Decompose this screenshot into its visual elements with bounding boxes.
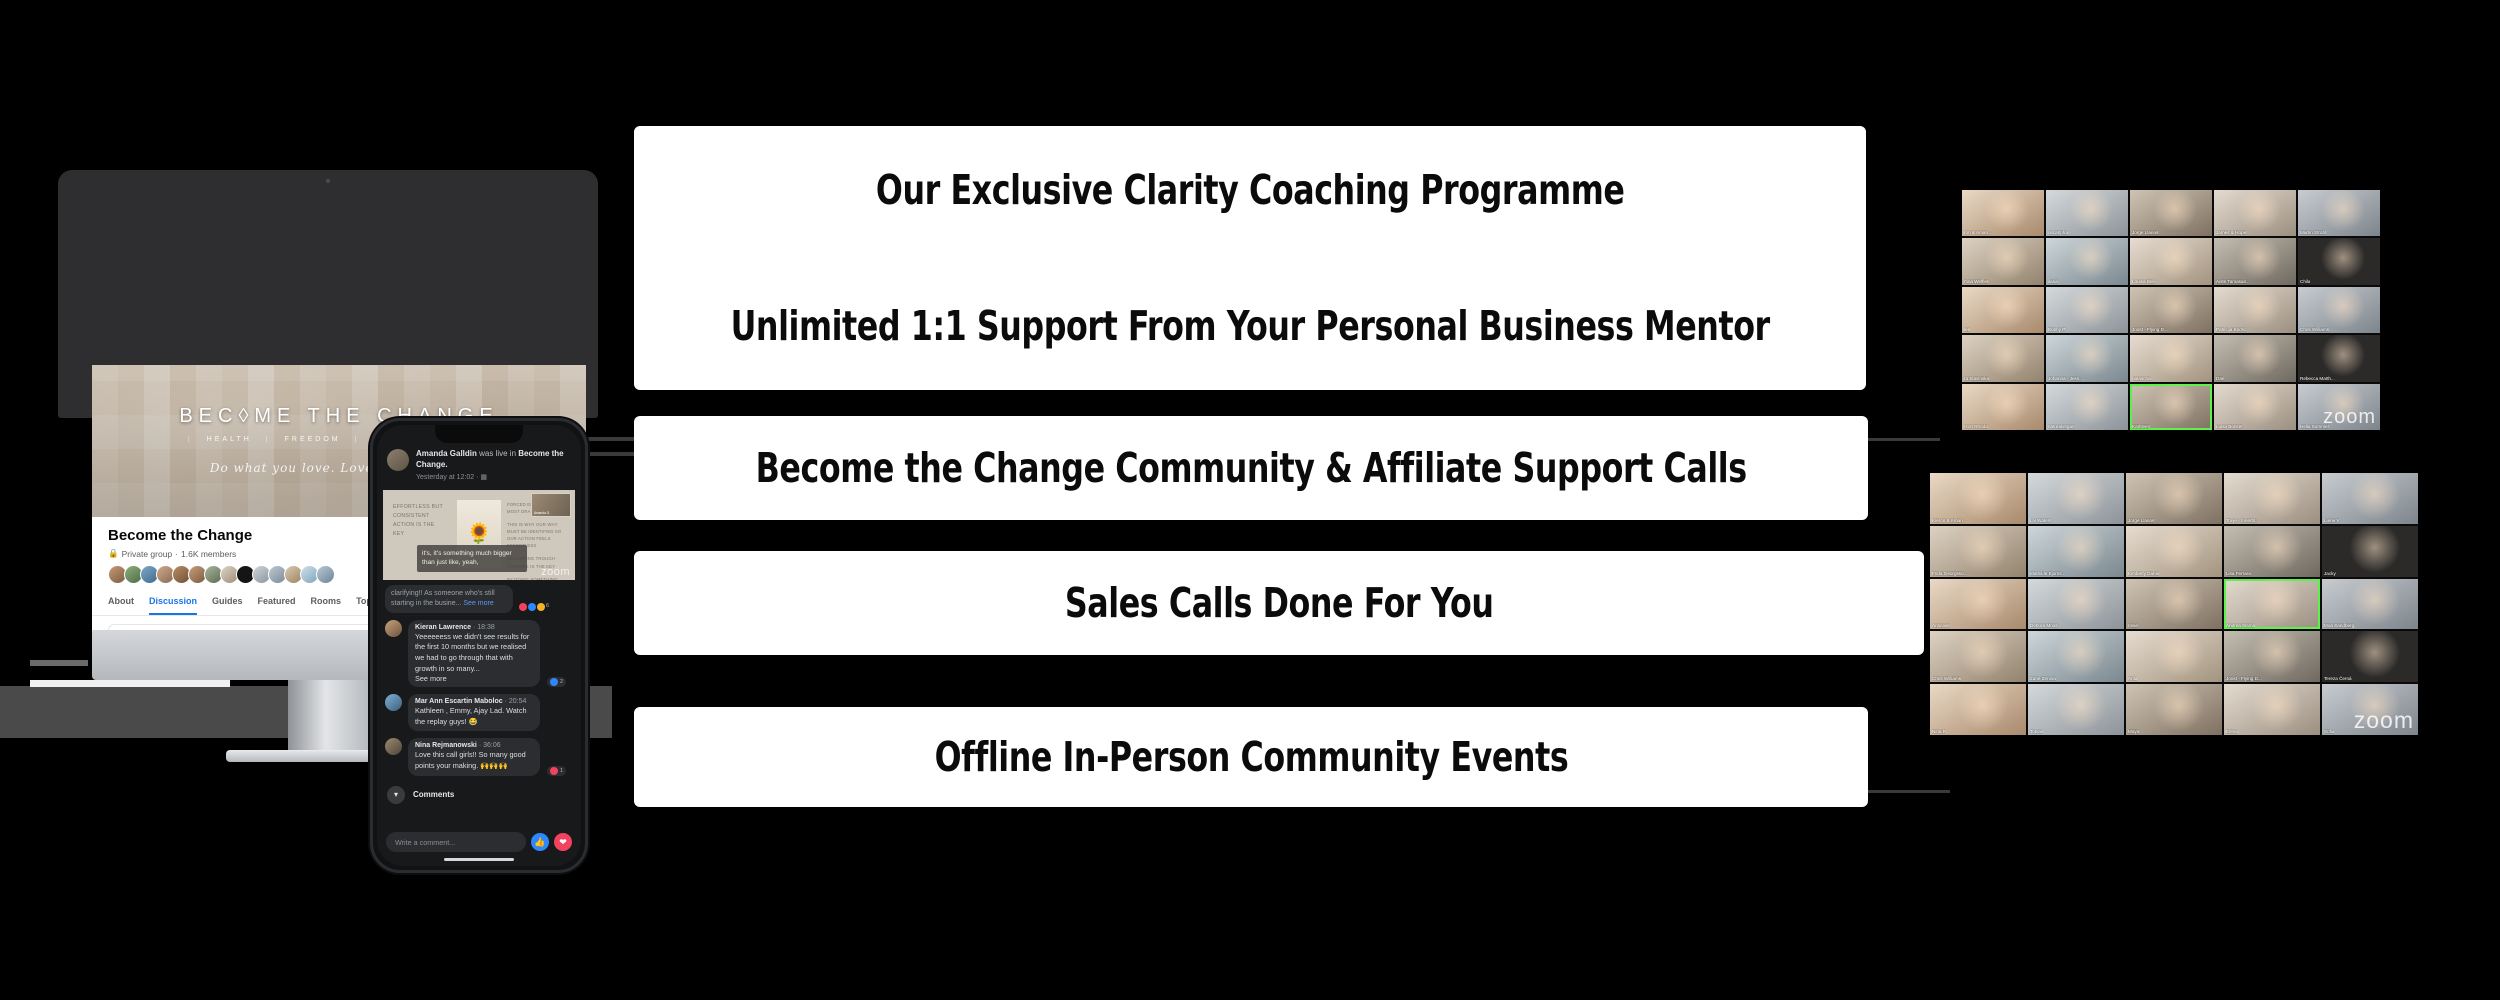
participant-name: Tonje - Innerbl...: [2226, 518, 2259, 523]
heart-icon[interactable]: ❤: [554, 833, 572, 851]
comment-composer[interactable]: Write a comment... 👍 ❤: [377, 832, 581, 852]
connector-line-right: [1860, 438, 1940, 441]
zoom-participant-tile[interactable]: Chris Williams: [1930, 631, 2026, 682]
zoom-participant-tile[interactable]: Elena: [2224, 684, 2320, 735]
zoom-watermark: zoom: [541, 566, 570, 578]
feature-title-3: Become the Change Community & Affiliate …: [755, 444, 1746, 492]
author-name: Mar Ann Escartin Maboloc: [415, 698, 503, 705]
zoom-participant-tile[interactable]: Rebecca Matth...: [2298, 335, 2380, 381]
tab-discussion[interactable]: Discussion: [149, 596, 197, 615]
participant-video: [2126, 579, 2222, 630]
participant-name: Chila: [2300, 279, 2310, 284]
timestamp-text: Yesterday at 12:02: [416, 474, 474, 481]
desk-accent-2: [30, 660, 88, 666]
participant-video: [2322, 631, 2418, 682]
comment-time: · 36:06: [479, 742, 501, 749]
participant-name: Moa Sandberg: [2324, 623, 2354, 628]
reaction-count: 1: [560, 768, 563, 774]
zoom-participant-tile[interactable]: rtina Welfler: [1962, 238, 2044, 284]
zoom-participant-tile[interactable]: Zane Zenina: [2028, 631, 2124, 682]
participant-name: Bobby P: [2048, 327, 2065, 332]
participant-name: Arita: [2128, 676, 2137, 681]
webcam-icon: [326, 179, 330, 183]
zoom-participant-tile[interactable]: Andrea Slama: [2224, 579, 2320, 630]
zoom-participant-tile[interactable]: Aiste Tamasait...: [2214, 238, 2296, 284]
zoom-participant-tile[interactable]: Johanna - Jess...: [2046, 335, 2128, 381]
participant-name: Dari: [2216, 376, 2224, 381]
zoom-participant-tile[interactable]: James & Hope: [2214, 190, 2296, 236]
feature-panel-3: Sales Calls Done For You: [634, 551, 1924, 655]
participant-video: [2028, 579, 2124, 630]
participant-name: Nina R: [1932, 729, 1946, 734]
participant-video: [2126, 473, 2222, 524]
participant-name: Aiste Tamasait...: [2216, 279, 2250, 284]
participant-name: Chris Williams: [1932, 676, 1961, 681]
feature-panel-4: Offline In-Person Community Events: [634, 707, 1868, 807]
lock-icon: 🔒: [108, 548, 119, 559]
zoom-participant-tile[interactable]: Luisa Bonser: [2214, 384, 2296, 430]
comment-time: · 20:54: [505, 698, 527, 705]
meta-separator: ·: [175, 549, 178, 559]
heart-icon: [550, 767, 558, 775]
participant-name: Rebecca Matth...: [2300, 376, 2335, 381]
feature-title-5: Offline In-Person Community Events: [934, 733, 1568, 781]
participant-name: Maya: [2128, 729, 2139, 734]
participant-video: [1962, 287, 2044, 333]
comment-list: clarifying!! As someone who's still star…: [377, 580, 581, 776]
zoom-watermark: zoom: [2323, 406, 2376, 429]
zoom-participant-tile[interactable]: ron & Aman...: [1962, 190, 2044, 236]
feature-panel-1: Our Exclusive Clarity Coaching Programme…: [634, 126, 1866, 390]
participant-name: Joost - Flying D...: [2132, 327, 2168, 332]
iphone-mockup: Amanda Galldin was live in Become the Ch…: [370, 418, 588, 873]
participant-name: Joost - Flying D...: [2226, 676, 2262, 681]
participant-video: [2126, 631, 2222, 682]
participant-name: oscarlpha: [2048, 230, 2068, 235]
participant-name: Jacky: [2324, 571, 2336, 576]
author-name: Nina Rejmanowski: [415, 742, 477, 749]
participant-video: [2224, 473, 2320, 524]
zoom-participant-tile[interactable]: Lisa Ferrara: [2224, 526, 2320, 577]
zoom-participant-tile[interactable]: Liene V: [2322, 473, 2418, 524]
group-member-count: 1.6K members: [181, 549, 236, 559]
participant-name: Martin Strobl: [2300, 230, 2326, 235]
comments-label: Comments: [413, 790, 454, 799]
zoom-gallery-bottom: Kieron & Aman...Liv WatersJorge LlanosTo…: [1930, 473, 2418, 735]
comment-body: Yeeeeeess we didn't see results for the …: [415, 632, 533, 674]
thumbs-up-icon: [528, 603, 536, 611]
zoom-participant-tile[interactable]: ilaria: [2046, 238, 2128, 284]
zoom-participant-tile[interactable]: Maya: [2126, 684, 2222, 735]
participant-name: natascha: [2132, 376, 2151, 381]
participant-name: Frida Georgsso...: [1932, 571, 1968, 576]
zoom-participant-tile[interactable]: Tereza Černá: [2322, 631, 2418, 682]
zoom-participant-tile[interactable]: Arita: [2126, 631, 2222, 682]
promo-composite: BEC◊ME THE CHANGE | HEALTH | FREEDOM | S…: [0, 0, 2500, 1000]
participant-video: [2224, 684, 2320, 735]
participant-name: Kieron & Aman...: [1932, 518, 1966, 523]
participant-video: [2028, 526, 2124, 577]
zoom-participant-tile[interactable]: oscarlpha: [2046, 190, 2128, 236]
participant-video: [2046, 238, 2128, 284]
comment-body: Love this call girls!! So many good poin…: [415, 750, 533, 771]
connector-line-right-2: [1860, 790, 1950, 793]
zoom-participant-tile[interactable]: Jacky: [2322, 526, 2418, 577]
avatar[interactable]: [385, 694, 402, 711]
tab-rooms[interactable]: Rooms: [311, 596, 342, 615]
comment-author[interactable]: Nina Rejmanowski · 36:06: [415, 742, 533, 749]
zoom-participant-tile[interactable]: Debora Moos: [2028, 579, 2124, 630]
participant-video: [1930, 473, 2026, 524]
participant-video: [2028, 473, 2124, 524]
zoom-participant-tile[interactable]: Joost - Flying D...: [2224, 631, 2320, 682]
participant-name: Annalise: [1932, 623, 1950, 628]
participant-name: ra Slavinska: [1964, 376, 1989, 381]
zoom-participant-tile[interactable]: Jorge Llanos: [2126, 473, 2222, 524]
participant-name: Liv Waters: [2030, 518, 2052, 523]
participant-name: Zane Zenina: [2030, 676, 2056, 681]
zoom-participant-tile[interactable]: rson Rhoda: [1962, 384, 2044, 430]
participant-name: lee: [1964, 327, 1970, 332]
live-caption: it's, it's something much bigger than ju…: [417, 545, 527, 571]
zoom-participant-tile[interactable]: Chila: [2298, 238, 2380, 284]
zoom-participant-tile[interactable]: Louisa Belli: [2130, 238, 2212, 284]
participant-name: Kathleen: [2132, 424, 2150, 429]
pip-label: Amanda G.: [534, 511, 550, 515]
author-name: Kieran Lawrence: [415, 624, 471, 631]
phone-notch: [435, 425, 523, 443]
home-indicator: [444, 858, 514, 861]
group-privacy: Private group: [122, 549, 173, 559]
comment-bubble: Kieran Lawrence · 18:38 Yeeeeeess we did…: [408, 620, 540, 687]
feature-title-2: Unlimited 1:1 Support From Your Personal…: [730, 302, 1769, 350]
participant-name: Tobias: [2030, 729, 2043, 734]
zoom-participant-tile[interactable]: Liv Waters: [2028, 473, 2124, 524]
feature-panel-2: Become the Change Community & Affiliate …: [634, 416, 1868, 520]
avatar[interactable]: [385, 620, 402, 637]
zoom-participant-tile[interactable]: Tobias: [2028, 684, 2124, 735]
list-item[interactable]: Nina Rejmanowski · 36:06 Love this call …: [385, 738, 573, 775]
post-byline: Amanda Galldin was live in Become the Ch…: [416, 449, 571, 471]
zoom-gallery-top: ron & Aman...oscarlphaJorge LlanosJames …: [1962, 190, 2380, 430]
feature-title-1: Our Exclusive Clarity Coaching Programme: [876, 166, 1624, 214]
participant-name: rtina Welfler: [1964, 279, 1988, 284]
avatar[interactable]: [385, 738, 402, 755]
participant-name: Louisa Belli: [2132, 279, 2156, 284]
care-icon: [537, 603, 545, 611]
thumbs-up-icon: [550, 678, 558, 686]
reaction-count: 2: [560, 679, 563, 685]
tab-guides[interactable]: Guides: [212, 596, 243, 615]
participant-name: James & Hope: [2216, 230, 2246, 235]
comment-bubble: Mar Ann Escartin Maboloc · 20:54 Kathlee…: [408, 694, 540, 731]
zoom-watermark: zoom: [2354, 707, 2414, 734]
participant-name: Luisa Bonser: [2216, 424, 2243, 429]
zoom-participant-tile[interactable]: Dari: [2214, 335, 2296, 381]
list-item[interactable]: clarifying!! As someone who's still star…: [385, 585, 513, 613]
cover-pillar-health: HEALTH: [207, 436, 252, 443]
participant-name: Jorge Llanos: [2128, 518, 2154, 523]
participant-video: [2224, 631, 2320, 682]
participant-video: [2028, 684, 2124, 735]
zoom-participant-tile[interactable]: Joost - Flying D...: [2130, 287, 2212, 333]
reaction-badge[interactable]: 2: [547, 677, 566, 687]
zoom-participant-tile[interactable]: rosie: [2126, 579, 2222, 630]
avatar: [316, 565, 335, 584]
zoom-participant-tile[interactable]: Patricija Kodric: [2214, 287, 2296, 333]
facebook-post-screen: Amanda Galldin was live in Become the Ch…: [377, 425, 581, 866]
comment-bubble: Nina Rejmanowski · 36:06 Love this call …: [408, 738, 540, 775]
tab-featured[interactable]: Featured: [258, 596, 296, 615]
see-more-link[interactable]: See more: [415, 674, 533, 683]
participant-video: [2224, 579, 2320, 630]
slide-left-text: EFFORTLESS BUT CONSISTENT ACTION IS THE …: [393, 503, 445, 539]
list-item[interactable]: Mar Ann Escartin Maboloc · 20:54 Kathlee…: [385, 694, 573, 731]
comment-author[interactable]: Kieran Lawrence · 18:38: [415, 624, 533, 631]
thumbs-up-icon[interactable]: 👍: [531, 833, 549, 851]
participant-video: [2126, 526, 2222, 577]
participant-video: [1930, 526, 2026, 577]
zoom-participant-tile[interactable]: natascha: [2130, 335, 2212, 381]
participant-name: Sofia: [2324, 729, 2334, 734]
participant-name: Elena: [2226, 729, 2238, 734]
live-video-player[interactable]: EFFORTLESS BUT CONSISTENT ACTION IS THE …: [383, 490, 575, 580]
zoom-participant-tile[interactable]: Tonje - Innerbl...: [2224, 473, 2320, 524]
zoom-participant-tile[interactable]: Chris Williams: [2298, 287, 2380, 333]
zoom-participant-tile[interactable]: Jorge Llanos: [2130, 190, 2212, 236]
desk-accent: [30, 680, 230, 687]
zoom-participant-tile[interactable]: Kieron & Aman...: [1930, 473, 2026, 524]
participant-name: ron & Aman...: [1964, 230, 1992, 235]
participant-name: Lisa Ferrara: [2226, 571, 2251, 576]
zoom-participant-tile[interactable]: Kathleen: [2130, 384, 2212, 430]
participant-name: rson Rhoda: [1964, 424, 1988, 429]
participant-name: naturalvegan: [2048, 424, 2075, 429]
participant-name: Tereza Černá: [2324, 676, 2352, 681]
zoom-participant-tile[interactable]: lee: [1962, 287, 2044, 333]
participant-video: [2126, 684, 2222, 735]
participant-video: [2322, 473, 2418, 524]
zoom-participant-tile[interactable]: naturalvegan: [2046, 384, 2128, 430]
participant-video: [1930, 579, 2026, 630]
post-action: was live in: [477, 449, 518, 458]
participant-name: Patricija Kodric: [2216, 327, 2247, 332]
zoom-participant-tile[interactable]: ra Slavinska: [1962, 335, 2044, 381]
list-item[interactable]: Kieran Lawrence · 18:38 Yeeeeeess we did…: [385, 620, 573, 687]
heart-icon: [519, 603, 527, 611]
comment-body: Kathleen , Emmy, Ajay Lad. Watch the rep…: [415, 706, 533, 727]
reaction-summary[interactable]: 6: [519, 603, 549, 611]
zoom-participant-tile[interactable]: Bobby P: [2046, 287, 2128, 333]
zoom-participant-tile[interactable]: Nina R: [1930, 684, 2026, 735]
comment-author[interactable]: Mar Ann Escartin Maboloc · 20:54: [415, 698, 533, 705]
participant-name: Mathilde Bjorns...: [2030, 571, 2066, 576]
participant-name: Kimberly Dahle: [2128, 571, 2159, 576]
participant-video: [2224, 526, 2320, 577]
tab-about[interactable]: About: [108, 596, 134, 615]
zoom-participant-tile[interactable]: Annalise: [1930, 579, 2026, 630]
participant-video: [2322, 526, 2418, 577]
comment-input[interactable]: Write a comment...: [386, 832, 526, 852]
participant-name: rosie: [2128, 623, 2138, 628]
participant-name: Liene V: [2324, 518, 2340, 523]
zoom-participant-tile[interactable]: Martin Strobl: [2298, 190, 2380, 236]
post-author[interactable]: Amanda Galldin: [416, 449, 477, 458]
participant-video: [2214, 335, 2296, 381]
zoom-participant-tile[interactable]: Mathilde Bjorns...: [2028, 526, 2124, 577]
zoom-participant-tile[interactable]: Frida Georgsso...: [1930, 526, 2026, 577]
presenter-pip: Amanda G.: [531, 493, 571, 517]
participant-name: Chris Williams: [2300, 327, 2329, 332]
participant-name: Andrea Slama: [2226, 623, 2255, 628]
participant-video: [2028, 631, 2124, 682]
participant-video: [1930, 631, 2026, 682]
participant-name: Jorge Llanos: [2132, 230, 2158, 235]
cover-pillar-freedom: FREEDOM: [285, 436, 341, 443]
feature-title-4: Sales Calls Done For You: [1065, 579, 1494, 627]
comment-time: · 18:38: [473, 624, 495, 631]
zoom-participant-tile[interactable]: Kimberly Dahle: [2126, 526, 2222, 577]
participant-name: Debora Moos: [2030, 623, 2058, 628]
avatar[interactable]: [387, 449, 409, 471]
post-timestamp: Yesterday at 12:02 · ▦: [416, 473, 571, 481]
reaction-badge[interactable]: 1: [547, 766, 566, 776]
chevron-down-icon[interactable]: ▾: [387, 786, 405, 804]
comments-toggle[interactable]: ▾ Comments: [377, 776, 581, 804]
zoom-participant-tile[interactable]: Moa Sandberg: [2322, 579, 2418, 630]
audience-icon: · ▦: [476, 474, 487, 481]
participant-name: Johanna - Jess...: [2048, 376, 2083, 381]
participant-video: [2322, 579, 2418, 630]
participant-name: ilaria: [2048, 279, 2058, 284]
reaction-count: 6: [546, 603, 549, 611]
feed-card-main: [108, 624, 410, 630]
see-more-link[interactable]: See more: [463, 600, 493, 607]
participant-video: [1930, 684, 2026, 735]
